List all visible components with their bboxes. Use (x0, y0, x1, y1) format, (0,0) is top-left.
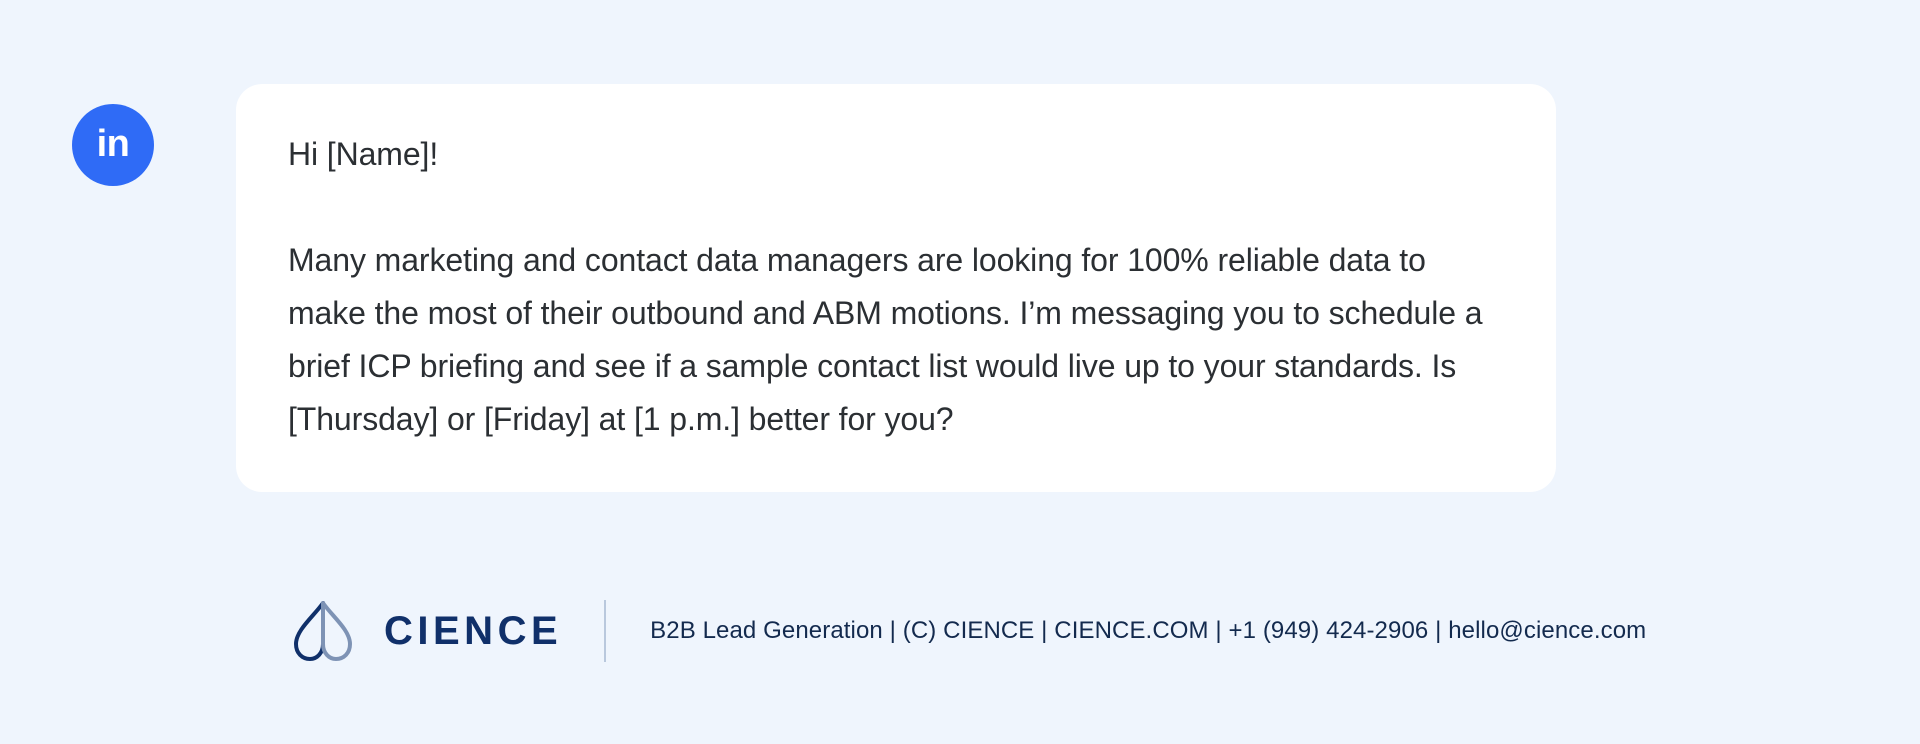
message-greeting: Hi [Name]! (288, 128, 1504, 181)
cience-logo-mark (290, 600, 356, 662)
linkedin-message-row: in Hi [Name]! Many marketing and contact… (72, 84, 1556, 492)
footer-contact-info: B2B Lead Generation | (C) CIENCE | CIENC… (650, 617, 1646, 646)
page-canvas: in Hi [Name]! Many marketing and contact… (0, 0, 1920, 744)
message-body: Many marketing and contact data managers… (288, 234, 1504, 446)
linkedin-avatar[interactable]: in (72, 104, 154, 186)
cience-wordmark: CIENCE (384, 611, 562, 651)
message-bubble: Hi [Name]! Many marketing and contact da… (236, 84, 1556, 492)
linkedin-icon: in (97, 125, 130, 163)
footer-divider (604, 600, 606, 662)
cience-logo: CIENCE (290, 600, 562, 662)
footer: CIENCE B2B Lead Generation | (C) CIENCE … (290, 600, 1646, 662)
